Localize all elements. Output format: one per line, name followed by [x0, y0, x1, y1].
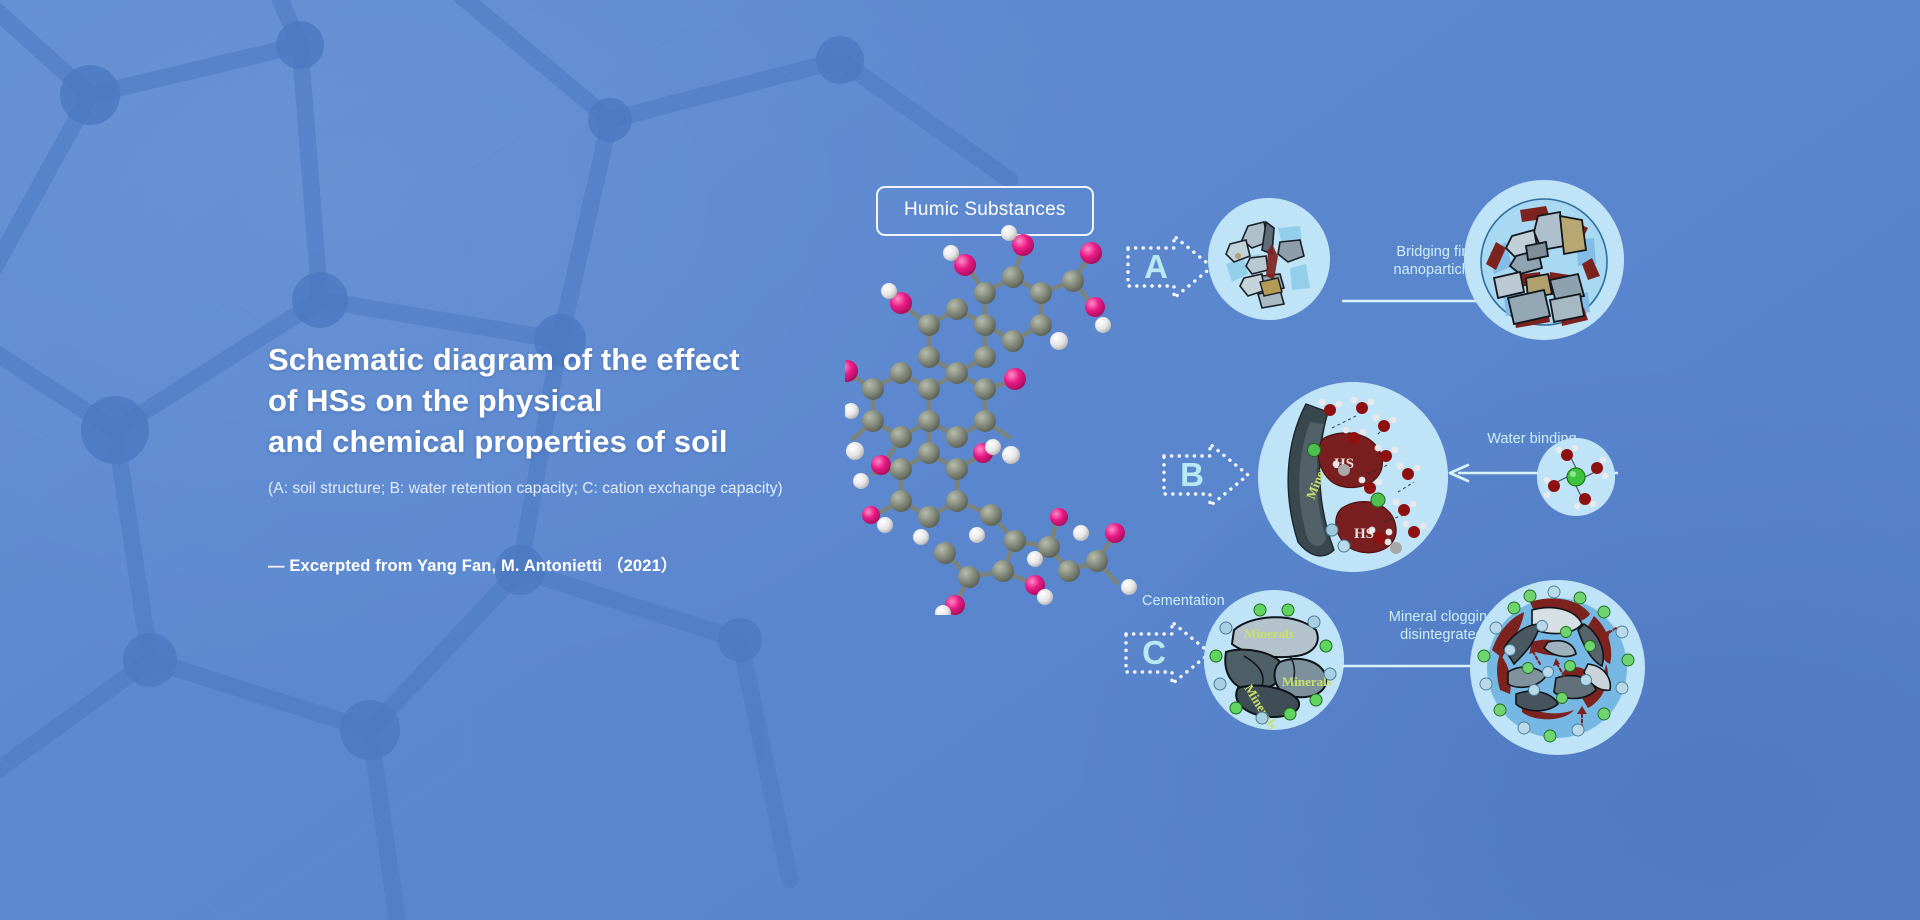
- water-binding-humic-mineral-illustration: Minerals HS HS: [1258, 382, 1448, 572]
- disintegrated-minerals-illustration: [1470, 580, 1645, 755]
- bridged-soil-aggregate-illustration: [1464, 180, 1624, 340]
- page-subtitle: (A: soil structure; B: water retention c…: [268, 479, 908, 500]
- source-attribution: — Excerpted from Yang Fan, M. Antonietti…: [268, 552, 908, 576]
- minerals-label-c1: Minerals: [1244, 626, 1294, 641]
- cemented-minerals-illustration: Minerals Minerals Minerals: [1204, 590, 1344, 730]
- text-panel: Schematic diagram of the effect of HSs o…: [268, 340, 908, 576]
- poster-canvas: Schematic diagram of the effect of HSs o…: [0, 0, 1920, 920]
- dotted-arrow-a: A: [1124, 232, 1216, 302]
- dotted-arrow-b: B: [1160, 440, 1252, 510]
- circle-b-after: [1537, 438, 1615, 516]
- circle-c-before: Minerals Minerals Minerals: [1204, 590, 1344, 730]
- headline-line-3: and chemical properties of soil: [268, 422, 908, 463]
- headline-line-1: Schematic diagram of the effect: [268, 340, 908, 381]
- step-letter-c: C: [1122, 618, 1186, 688]
- circle-a-after: [1464, 180, 1624, 340]
- page-title: Schematic diagram of the effect of HSs o…: [268, 340, 908, 463]
- headline-line-2: of HSs on the physical: [268, 381, 908, 422]
- step-letter-b: B: [1160, 440, 1224, 510]
- hydrated-cation-illustration: [1537, 438, 1615, 516]
- loose-soil-particles-illustration: [1208, 198, 1330, 320]
- humic-substances-label: Humic Substances: [876, 186, 1094, 236]
- dotted-arrow-c: C: [1122, 618, 1214, 688]
- circle-c-after: [1470, 580, 1645, 755]
- step-letter-a: A: [1124, 232, 1188, 302]
- circle-b-before: Minerals HS HS: [1258, 382, 1448, 572]
- circle-a-before: [1208, 198, 1330, 320]
